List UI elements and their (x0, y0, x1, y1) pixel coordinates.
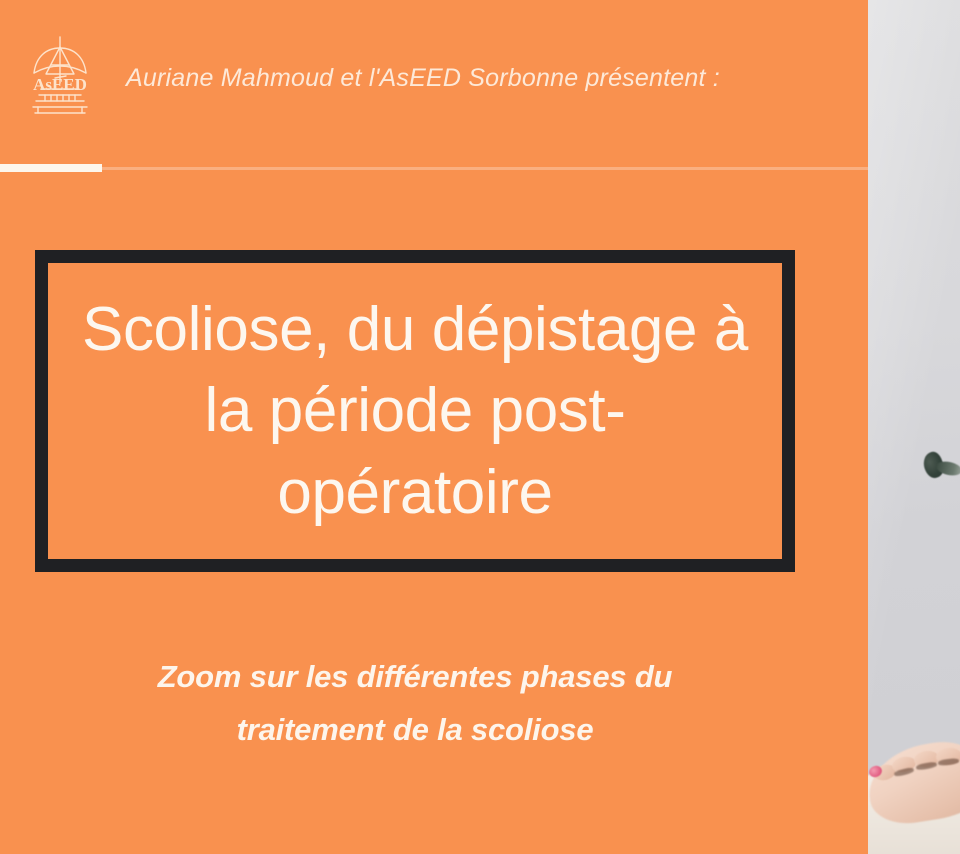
divider-accent (0, 164, 102, 172)
title-frame: Scoliose, du dépistage à la période post… (35, 250, 795, 572)
page-title: Scoliose, du dépistage à la période post… (68, 289, 762, 533)
aseed-logo-icon: AsEED (25, 33, 95, 117)
subtitle-line-1: Zoom sur les différentes phases du (158, 659, 673, 694)
aseed-logo-wordmark: AsEED (33, 75, 87, 94)
page-subtitle: Zoom sur les différentes phases du trait… (35, 650, 795, 757)
background-photo (864, 0, 960, 854)
title-line-3: opératoire (277, 458, 552, 527)
title-line-2: la période post- (205, 376, 626, 445)
slide-panel: AsEED Auriane Mahmoud et l'AsEED Sorbonn… (0, 0, 868, 854)
photo-wall (864, 0, 960, 854)
subtitle-line-2: traitement de la scoliose (237, 712, 594, 747)
title-line-1: Scoliose, du dépistage à (82, 295, 748, 364)
presentation-slide: AsEED Auriane Mahmoud et l'AsEED Sorbonn… (0, 0, 960, 854)
divider-line (0, 167, 868, 170)
presenters-line: Auriane Mahmoud et l'AsEED Sorbonne prés… (126, 64, 720, 93)
